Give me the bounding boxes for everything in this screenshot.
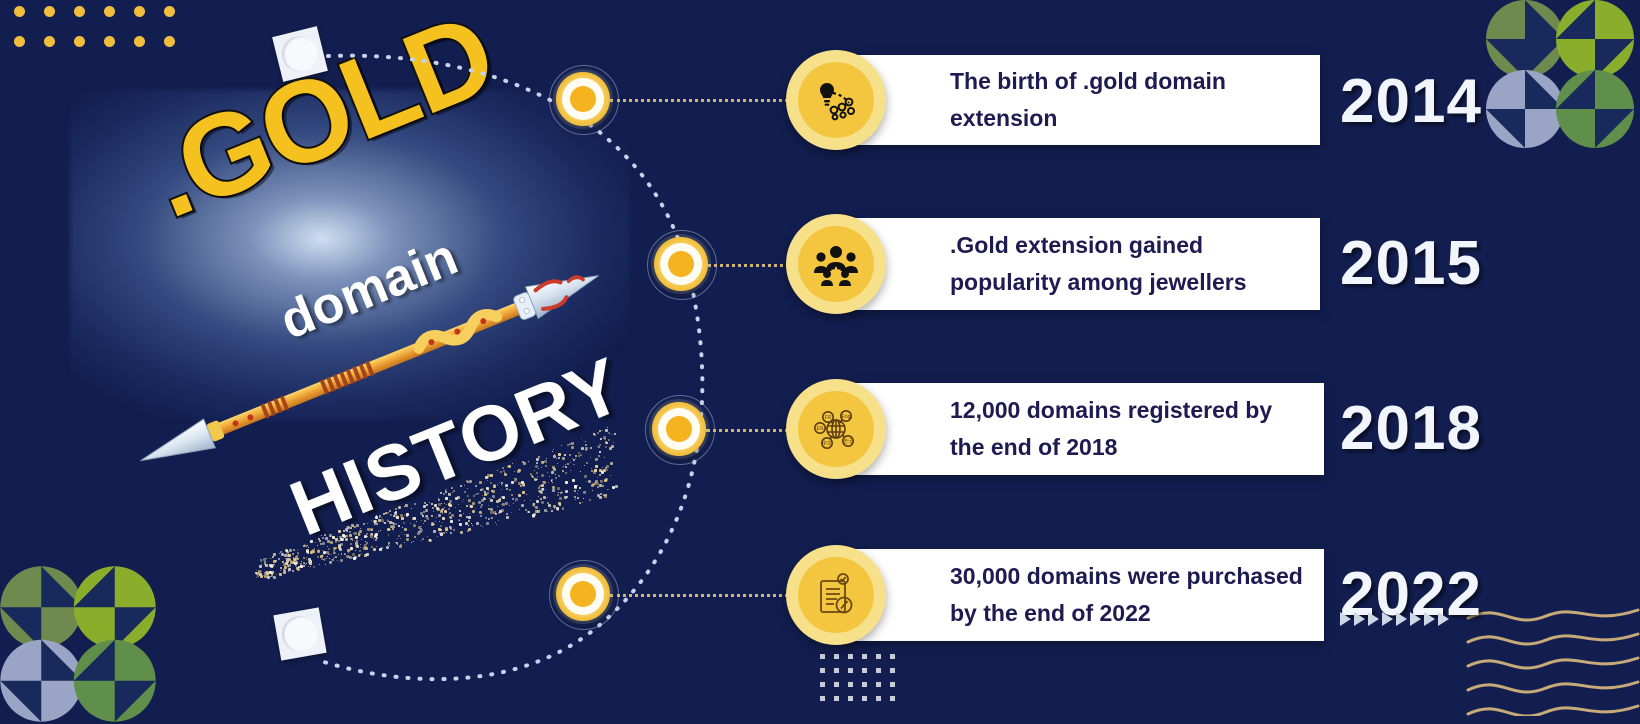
- glitter-speck: [265, 564, 268, 567]
- glitter-speck: [278, 558, 280, 560]
- gray-dot: [848, 696, 853, 701]
- glitter-speck: [276, 574, 277, 575]
- glitter-speck: [275, 560, 277, 562]
- timeline-card-2022[interactable]: 30,000 domains were purchased by the end…: [832, 549, 1324, 641]
- glitter-speck: [286, 550, 288, 552]
- node-center-dot: [666, 416, 692, 442]
- glitter-speck: [306, 557, 307, 558]
- glitter-speck: [288, 558, 291, 561]
- glitter-speck: [261, 571, 262, 572]
- gray-dot: [848, 654, 853, 659]
- glitter-speck: [287, 565, 289, 567]
- gray-dot: [834, 654, 839, 659]
- timeline-card-2018[interactable]: FR Eng EN 中文 한국 12,000 domains registere…: [832, 383, 1324, 475]
- glitter-speck: [272, 574, 273, 575]
- gray-dot: [890, 682, 895, 687]
- glitter-speck: [294, 558, 297, 561]
- gold-dot: [44, 6, 55, 17]
- card-text-2018: 12,000 domains registered by the end of …: [832, 392, 1286, 467]
- gray-dot: [820, 682, 825, 687]
- gray-dot: [890, 696, 895, 701]
- card-line-2: extension: [950, 100, 1226, 137]
- card-line-1: 12,000 domains registered by: [950, 392, 1272, 429]
- glitter-speck: [268, 572, 269, 573]
- node-center-dot: [570, 581, 596, 607]
- glitter-speck: [287, 551, 289, 553]
- card-text-2022: 30,000 domains were purchased by the end…: [832, 558, 1317, 633]
- glitter-speck: [300, 565, 301, 566]
- card-line-2: the end of 2018: [950, 429, 1272, 466]
- glitter-speck: [264, 563, 266, 565]
- triangle-arrow-row: [1340, 612, 1449, 626]
- glitter-speck: [297, 568, 300, 571]
- glitter-speck: [288, 564, 291, 567]
- card-text-2015: .Gold extension gained popularity among …: [832, 227, 1261, 302]
- glitter-speck: [298, 558, 299, 559]
- glitter-speck: [292, 561, 295, 564]
- glitter-speck: [264, 572, 267, 575]
- glitter-speck: [261, 564, 262, 565]
- gray-dot: [820, 668, 825, 673]
- glitter-speck: [271, 566, 273, 568]
- glitter-speck: [273, 560, 276, 563]
- glitter-speck: [288, 568, 291, 571]
- glitter-speck: [287, 561, 289, 563]
- glitter-speck: [295, 565, 297, 567]
- glitter-speck: [308, 561, 310, 563]
- gold-dot: [14, 36, 25, 47]
- gray-dot: [862, 682, 867, 687]
- pinwheel-top-right-icon: [1480, 0, 1640, 154]
- glitter-speck: [279, 573, 280, 574]
- card-line-1: 30,000 domains were purchased: [950, 558, 1303, 595]
- glitter-speck: [264, 575, 267, 578]
- glitter-speck: [288, 567, 289, 568]
- glitter-speck: [267, 576, 270, 579]
- glitter-speck: [292, 553, 294, 555]
- timeline-card-2015[interactable]: .Gold extension gained popularity among …: [832, 218, 1320, 310]
- glitter-speck: [279, 553, 280, 554]
- svg-text:FR: FR: [825, 415, 832, 421]
- glitter-speck: [296, 567, 298, 569]
- svg-text:中文: 中文: [822, 440, 832, 447]
- glitter-speck: [259, 573, 260, 574]
- glitter-speck: [259, 565, 262, 568]
- svg-text:한국: 한국: [843, 439, 853, 445]
- glitter-speck: [284, 566, 286, 568]
- gray-dot: [876, 682, 881, 687]
- glitter-speck: [267, 574, 269, 576]
- glitter-speck: [280, 567, 282, 569]
- glitter-speck: [308, 566, 309, 567]
- glitter-speck: [286, 560, 289, 563]
- glitter-speck: [299, 569, 300, 570]
- svg-text:EN: EN: [817, 426, 824, 432]
- gray-dot: [890, 654, 895, 659]
- glitter-speck: [289, 549, 292, 552]
- glitter-speck: [257, 575, 259, 577]
- glitter-speck: [306, 550, 309, 553]
- glitter-speck: [271, 573, 273, 575]
- glitter-speck: [284, 554, 287, 557]
- glitter-speck: [285, 558, 286, 559]
- gray-dot: [834, 696, 839, 701]
- gold-dot: [134, 6, 145, 17]
- glitter-speck: [255, 572, 257, 574]
- glitter-speck: [273, 553, 276, 556]
- glitter-speck: [279, 573, 282, 576]
- glitter-speck: [296, 562, 298, 564]
- glitter-speck: [282, 554, 283, 555]
- year-label-2014: 2014: [1340, 66, 1482, 137]
- glitter-speck: [296, 567, 299, 570]
- gray-dot: [862, 654, 867, 659]
- gray-dot: [890, 668, 895, 673]
- glitter-speck: [297, 558, 299, 560]
- glitter-speck: [292, 570, 294, 572]
- glitter-speck: [285, 562, 288, 565]
- glitter-speck: [258, 570, 261, 573]
- gold-dot: [164, 36, 175, 47]
- glitter-speck: [295, 561, 298, 564]
- white-rounded-square-bottom: [273, 607, 326, 660]
- glitter-speck: [283, 569, 285, 571]
- card-line-2: popularity among jewellers: [950, 264, 1247, 301]
- timeline-node-2015[interactable]: [654, 237, 708, 291]
- glitter-speck: [263, 558, 266, 561]
- glitter-speck: [298, 554, 299, 555]
- wavy-lines-icon: [1460, 596, 1640, 716]
- gray-dot: [876, 668, 881, 673]
- glitter-speck: [300, 565, 303, 568]
- glitter-speck: [285, 549, 288, 552]
- glitter-speck: [266, 572, 269, 575]
- glitter-speck: [285, 563, 286, 564]
- gray-dot: [848, 682, 853, 687]
- glitter-speck: [303, 545, 305, 547]
- glitter-speck: [290, 561, 293, 564]
- glitter-speck: [269, 571, 272, 574]
- glitter-speck: [297, 552, 299, 554]
- gold-dot: [164, 6, 175, 17]
- glitter-speck: [284, 570, 286, 572]
- glitter-speck: [303, 557, 305, 559]
- glitter-speck: [309, 560, 312, 563]
- glitter-speck: [284, 566, 287, 569]
- glitter-speck: [266, 571, 269, 574]
- glitter-speck: [261, 561, 262, 562]
- gold-dot: [104, 6, 115, 17]
- glitter-speck: [307, 552, 309, 554]
- gold-dot: [74, 6, 85, 17]
- glitter-speck: [280, 551, 282, 553]
- gray-dot: [876, 696, 881, 701]
- glitter-speck: [268, 574, 269, 575]
- glitter-speck: [295, 565, 296, 566]
- card-text-2014: The birth of .gold domain extension: [832, 63, 1240, 138]
- gold-dot: [44, 36, 55, 47]
- glitter-speck: [297, 549, 298, 550]
- glitter-speck: [305, 564, 306, 565]
- glitter-speck: [308, 558, 311, 561]
- glitter-speck: [290, 560, 292, 562]
- glitter-speck: [288, 554, 291, 557]
- glitter-speck: [273, 576, 276, 579]
- glitter-speck: [302, 566, 303, 567]
- year-label-2018: 2018: [1340, 393, 1482, 464]
- glitter-speck: [271, 564, 274, 567]
- glitter-speck: [304, 544, 305, 545]
- gray-dot: [834, 668, 839, 673]
- glitter-speck: [303, 565, 305, 567]
- glitter-speck: [269, 564, 272, 567]
- gray-dot: [862, 696, 867, 701]
- glitter-speck: [288, 571, 289, 572]
- glitter-speck: [283, 563, 286, 566]
- glitter-speck: [295, 556, 298, 559]
- glitter-speck: [270, 558, 271, 559]
- glitter-speck: [271, 571, 274, 574]
- timeline-node-2022[interactable]: [556, 567, 610, 621]
- glitter-speck: [259, 573, 262, 576]
- glitter-speck: [300, 563, 302, 565]
- glitter-speck: [310, 566, 311, 567]
- glitter-speck: [293, 557, 294, 558]
- gray-dot: [848, 668, 853, 673]
- glitter-speck: [309, 562, 312, 565]
- gold-dot: [134, 36, 145, 47]
- card-line-1: .Gold extension gained: [950, 227, 1247, 264]
- glitter-speck: [290, 549, 291, 550]
- glitter-speck: [281, 553, 284, 556]
- gray-dot: [820, 654, 825, 659]
- glitter-speck: [306, 563, 307, 564]
- glitter-speck: [270, 565, 273, 568]
- glitter-speck: [287, 559, 289, 561]
- people-group-icon: [786, 214, 886, 314]
- gray-dot: [876, 654, 881, 659]
- gray-dot: [862, 668, 867, 673]
- glitter-speck: [273, 555, 274, 556]
- glitter-speck: [256, 570, 257, 571]
- glitter-speck: [293, 558, 296, 561]
- glitter-speck: [317, 556, 319, 558]
- glitter-speck: [286, 552, 289, 555]
- glitter-speck: [263, 575, 264, 576]
- year-label-2015: 2015: [1340, 228, 1482, 299]
- timeline-card-2014[interactable]: The birth of .gold domain extension: [832, 55, 1320, 145]
- glitter-speck: [270, 576, 271, 577]
- glitter-speck: [293, 549, 295, 551]
- timeline-node-2018[interactable]: [652, 402, 706, 456]
- document-checklist-pen-icon: [786, 545, 886, 645]
- node-center-dot: [668, 251, 694, 277]
- glitter-speck: [296, 555, 298, 557]
- glitter-speck: [280, 567, 282, 569]
- glitter-speck: [260, 559, 262, 561]
- lightbulb-gears-icon: [786, 50, 886, 150]
- globe-languages-icon: FR Eng EN 中文 한국: [786, 379, 886, 479]
- glitter-speck: [256, 572, 259, 575]
- glitter-speck: [282, 561, 283, 562]
- glitter-speck: [287, 555, 289, 557]
- timeline-node-2014[interactable]: [556, 72, 610, 126]
- glitter-speck: [267, 576, 269, 578]
- glitter-speck: [274, 564, 275, 565]
- glitter-speck: [286, 563, 288, 565]
- glitter-speck: [308, 562, 309, 563]
- glitter-speck: [280, 570, 281, 571]
- pinwheel-bottom-left-icon: [0, 560, 162, 724]
- svg-text:Eng: Eng: [842, 414, 851, 420]
- glitter-speck: [265, 571, 267, 573]
- gold-dot: [104, 36, 115, 47]
- glitter-speck: [306, 549, 309, 552]
- glitter-speck: [286, 558, 289, 561]
- glitter-speck: [313, 566, 315, 568]
- dotted-arc: [320, 40, 740, 690]
- infographic-canvas: .GOLD domain HISTORY: [0, 0, 1640, 724]
- card-line-2: by the end of 2022: [950, 595, 1303, 632]
- gray-dot: [834, 682, 839, 687]
- gold-dot: [14, 6, 25, 17]
- glitter-speck: [283, 568, 286, 571]
- glitter-speck: [283, 571, 286, 574]
- glitter-speck: [294, 562, 297, 565]
- glitter-speck: [264, 561, 266, 563]
- glitter-speck: [260, 575, 263, 578]
- glitter-speck: [266, 558, 267, 559]
- glitter-speck: [282, 561, 284, 563]
- glitter-speck: [271, 575, 273, 577]
- gray-dot: [820, 696, 825, 701]
- glitter-speck: [272, 556, 274, 558]
- glitter-speck: [256, 577, 257, 578]
- glitter-speck: [303, 562, 305, 564]
- glitter-speck: [306, 559, 307, 560]
- card-line-1: The birth of .gold domain: [950, 63, 1226, 100]
- glitter-speck: [305, 545, 307, 547]
- glitter-speck: [298, 566, 300, 568]
- glitter-speck: [301, 561, 302, 562]
- gold-dot: [74, 36, 85, 47]
- node-center-dot: [570, 86, 596, 112]
- glitter-speck: [304, 563, 305, 564]
